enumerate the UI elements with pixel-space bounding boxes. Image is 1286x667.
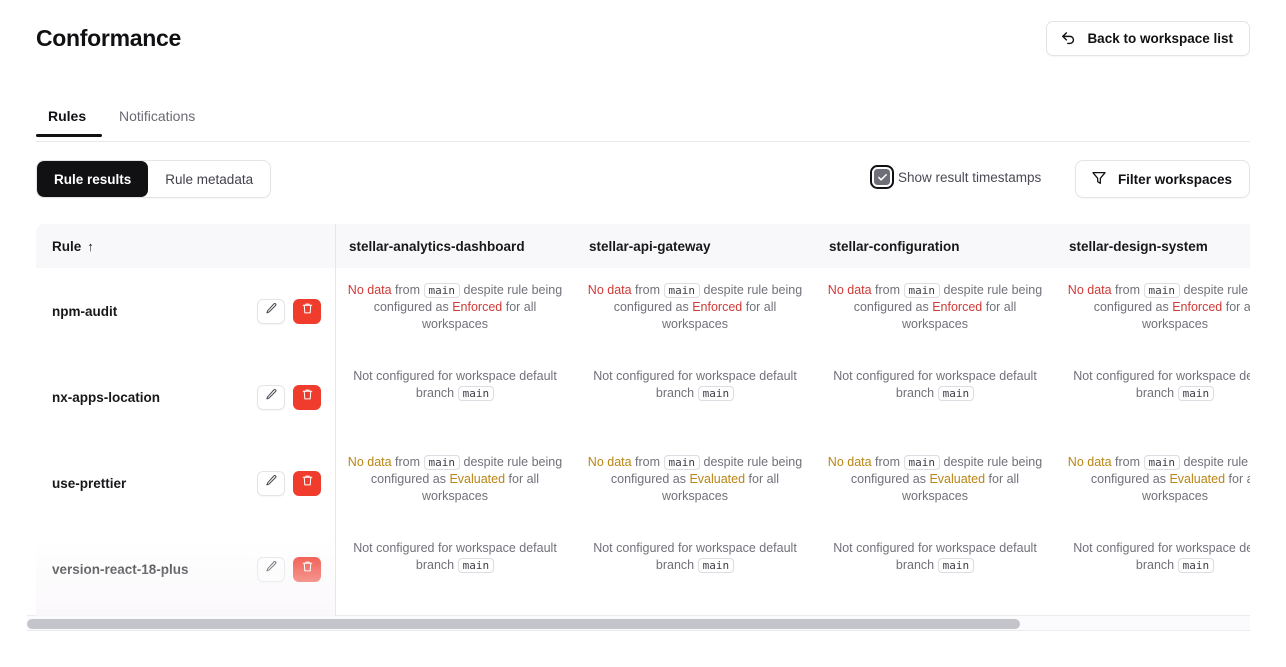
tab-bar-divider (36, 141, 1250, 142)
result-cell: Not configured for workspace default bra… (575, 354, 815, 440)
pencil-icon (265, 302, 278, 320)
branch-badge: main (424, 283, 461, 298)
branch-badge: main (938, 386, 975, 401)
show-result-timestamps-toggle[interactable]: Show result timestamps (874, 169, 1041, 185)
conformance-page: Conformance Back to workspace list Rules… (0, 0, 1286, 667)
back-to-workspace-list-button[interactable]: Back to workspace list (1046, 21, 1250, 56)
back-button-label: Back to workspace list (1087, 31, 1233, 46)
segment-rule-metadata-label: Rule metadata (165, 172, 253, 187)
delete-rule-button[interactable] (293, 471, 321, 496)
page-title: Conformance (36, 25, 181, 52)
edit-rule-button[interactable] (257, 299, 285, 324)
rule-name: nx-apps-location (52, 390, 160, 405)
status-text: No data (828, 283, 872, 297)
branch-badge: main (904, 283, 941, 298)
column-header-workspace[interactable]: stellar-api-gateway (575, 224, 815, 268)
result-cell: Not configured for workspace default bra… (815, 354, 1055, 440)
branch-badge: main (698, 386, 735, 401)
table-row: nx-apps-locationNot configured for works… (36, 354, 1250, 440)
rule-cell: use-prettier (36, 440, 335, 526)
result-cell: No data from main despite rule being con… (335, 268, 575, 354)
results-toolbar: Rule results Rule metadata Show result t… (0, 160, 1286, 200)
sticky-column-divider (335, 224, 336, 616)
trash-icon (301, 474, 314, 492)
enforcement-level: Evaluated (1169, 472, 1225, 486)
result-message: No data from main despite rule being con… (827, 282, 1043, 333)
table-row: npm-auditNo data from main despite rule … (36, 268, 1250, 354)
result-message: Not configured for workspace default bra… (587, 540, 803, 574)
branch-badge: main (1144, 283, 1181, 298)
rule-cell: version-react-18-plus (36, 526, 335, 612)
branch-badge: main (664, 455, 701, 470)
table-body: npm-auditNo data from main despite rule … (36, 268, 1250, 612)
conformance-results-table: Rule ↑ stellar-analytics-dashboard stell… (36, 224, 1250, 616)
edit-rule-button[interactable] (257, 385, 285, 410)
status-text: No data (348, 455, 392, 469)
result-cell: No data from main despite rule being con… (575, 440, 815, 526)
result-cell: No data from main despite rule being con… (1055, 268, 1250, 354)
result-cell: No data from main despite rule being con… (815, 440, 1055, 526)
trash-icon (301, 560, 314, 578)
rule-name: npm-audit (52, 304, 117, 319)
rule-cell: nx-apps-location (36, 354, 335, 440)
rule-actions (257, 557, 321, 582)
tab-notifications[interactable]: Notifications (119, 106, 195, 141)
result-message: Not configured for workspace default bra… (827, 540, 1043, 574)
column-header-workspace[interactable]: stellar-configuration (815, 224, 1055, 268)
result-cell: No data from main despite rule being con… (335, 440, 575, 526)
pencil-icon (265, 388, 278, 406)
result-message: No data from main despite rule being con… (1067, 282, 1250, 333)
delete-rule-button[interactable] (293, 385, 321, 410)
pencil-icon (265, 474, 278, 492)
result-message: Not configured for workspace default bra… (347, 368, 563, 402)
branch-badge: main (1178, 386, 1215, 401)
check-icon (877, 172, 888, 183)
result-message: No data from main despite rule being con… (347, 282, 563, 333)
result-cell: Not configured for workspace default bra… (1055, 354, 1250, 440)
column-header-rule-label: Rule (52, 239, 81, 254)
column-header-workspace[interactable]: stellar-analytics-dashboard (335, 224, 575, 268)
segment-rule-metadata[interactable]: Rule metadata (148, 161, 270, 197)
rule-name: version-react-18-plus (52, 562, 189, 577)
branch-badge: main (424, 455, 461, 470)
rule-name: use-prettier (52, 476, 126, 491)
status-text: No data (1068, 455, 1112, 469)
result-cell: Not configured for workspace default bra… (575, 526, 815, 612)
branch-badge: main (938, 558, 975, 573)
result-message: No data from main despite rule being con… (1067, 454, 1250, 505)
result-cell: No data from main despite rule being con… (1055, 440, 1250, 526)
result-message: No data from main despite rule being con… (587, 454, 803, 505)
result-message: No data from main despite rule being con… (587, 282, 803, 333)
enforcement-level: Evaluated (449, 472, 505, 486)
tab-bar: Rules Notifications (0, 106, 1286, 142)
tab-notifications-label: Notifications (119, 108, 195, 124)
result-cell: Not configured for workspace default bra… (335, 354, 575, 440)
horizontal-scrollbar-thumb[interactable] (27, 619, 1020, 629)
pencil-icon (265, 560, 278, 578)
tab-rules-label: Rules (48, 108, 86, 124)
result-message: Not configured for workspace default bra… (1067, 368, 1250, 402)
arrow-uturn-left-icon (1060, 30, 1077, 47)
column-header-workspace-label: stellar-analytics-dashboard (349, 239, 525, 254)
rule-actions (257, 299, 321, 324)
branch-badge: main (458, 386, 495, 401)
status-text: No data (1068, 283, 1112, 297)
horizontal-scrollbar-track[interactable] (27, 615, 1250, 631)
enforcement-level: Enforced (1172, 300, 1222, 314)
enforcement-level: Enforced (932, 300, 982, 314)
rule-cell: npm-audit (36, 268, 335, 354)
result-message: Not configured for workspace default bra… (587, 368, 803, 402)
branch-badge: main (1178, 558, 1215, 573)
table-header-row: Rule ↑ stellar-analytics-dashboard stell… (36, 224, 1250, 268)
result-cell: No data from main despite rule being con… (575, 268, 815, 354)
delete-rule-button[interactable] (293, 557, 321, 582)
active-tab-indicator (36, 134, 102, 137)
result-cell: Not configured for workspace default bra… (1055, 526, 1250, 612)
segment-rule-results-label: Rule results (54, 172, 131, 187)
filter-workspaces-button[interactable]: Filter workspaces (1075, 160, 1250, 198)
enforcement-level: Enforced (692, 300, 742, 314)
column-header-workspace-label: stellar-api-gateway (589, 239, 711, 254)
status-text: No data (588, 455, 632, 469)
result-message: No data from main despite rule being con… (827, 454, 1043, 505)
result-message: Not configured for workspace default bra… (827, 368, 1043, 402)
table-row: version-react-18-plusNot configured for … (36, 526, 1250, 612)
branch-badge: main (698, 558, 735, 573)
delete-rule-button[interactable] (293, 299, 321, 324)
table-row: use-prettierNo data from main despite ru… (36, 440, 1250, 526)
trash-icon (301, 388, 314, 406)
status-text: No data (828, 455, 872, 469)
segment-rule-results[interactable]: Rule results (37, 161, 148, 197)
funnel-icon (1091, 170, 1107, 189)
enforcement-level: Evaluated (689, 472, 745, 486)
result-cell: Not configured for workspace default bra… (815, 526, 1055, 612)
view-mode-segmented-control: Rule results Rule metadata (36, 160, 271, 198)
rule-actions (257, 385, 321, 410)
page-header: Conformance Back to workspace list (0, 0, 1286, 78)
enforcement-level: Evaluated (929, 472, 985, 486)
enforcement-level: Enforced (452, 300, 502, 314)
column-header-workspace-label: stellar-configuration (829, 239, 960, 254)
branch-badge: main (458, 558, 495, 573)
trash-icon (301, 302, 314, 320)
show-result-timestamps-checkbox[interactable] (874, 169, 890, 185)
edit-rule-button[interactable] (257, 557, 285, 582)
status-text: No data (588, 283, 632, 297)
edit-rule-button[interactable] (257, 471, 285, 496)
sort-ascending-icon: ↑ (87, 239, 94, 254)
result-cell: No data from main despite rule being con… (815, 268, 1055, 354)
result-cell: Not configured for workspace default bra… (335, 526, 575, 612)
result-message: Not configured for workspace default bra… (1067, 540, 1250, 574)
result-message: Not configured for workspace default bra… (347, 540, 563, 574)
column-header-workspace[interactable]: stellar-design-system (1055, 224, 1250, 268)
filter-workspaces-label: Filter workspaces (1118, 172, 1232, 187)
branch-badge: main (1144, 455, 1181, 470)
status-text: No data (348, 283, 392, 297)
column-header-rule[interactable]: Rule ↑ (36, 224, 335, 268)
column-header-workspace-label: stellar-design-system (1069, 239, 1208, 254)
branch-badge: main (664, 283, 701, 298)
result-message: No data from main despite rule being con… (347, 454, 563, 505)
rule-actions (257, 471, 321, 496)
show-result-timestamps-label: Show result timestamps (898, 170, 1041, 185)
branch-badge: main (904, 455, 941, 470)
